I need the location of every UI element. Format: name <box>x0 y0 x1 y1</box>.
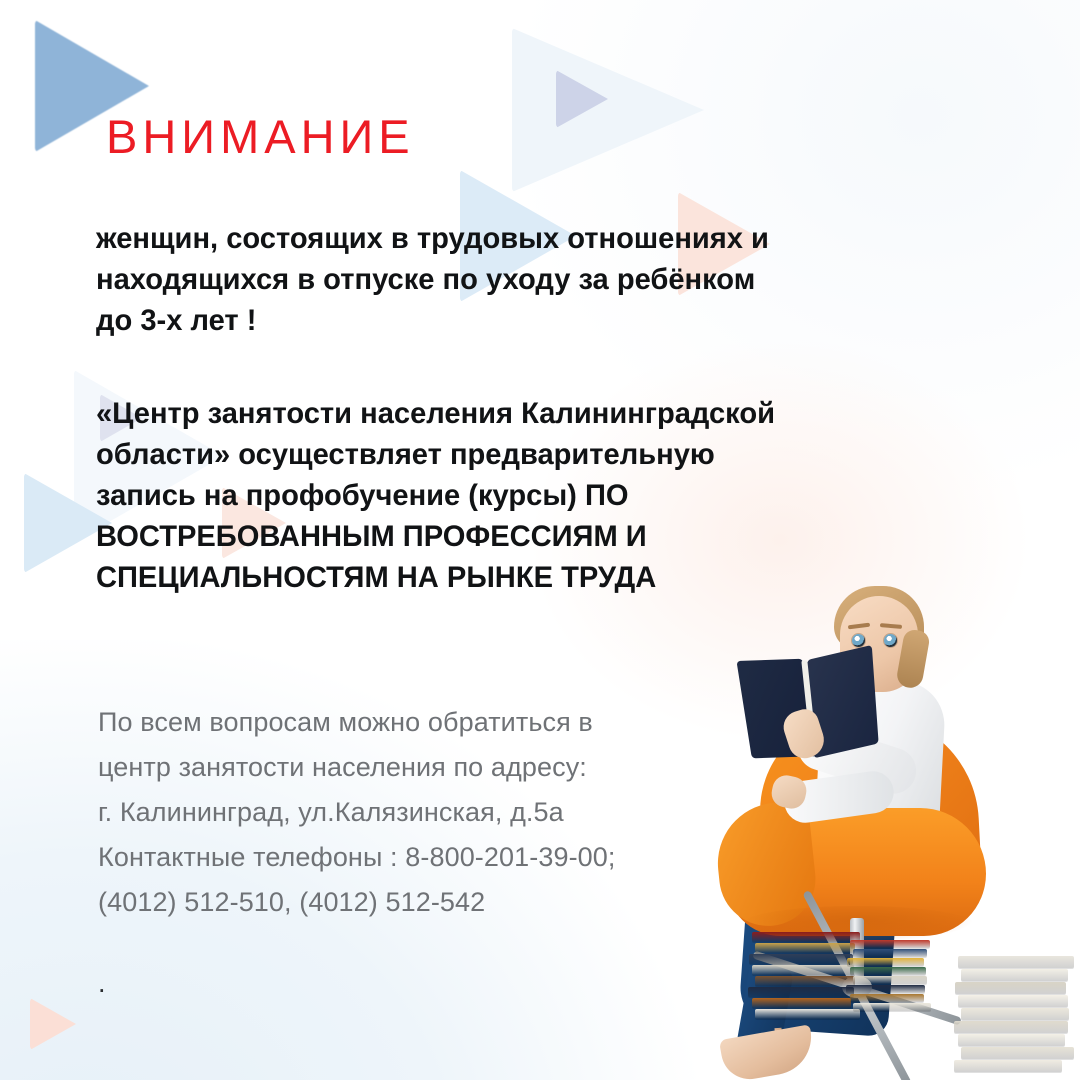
contact-phone-primary: Контактные телефоны : 8-800-201-39-00; <box>98 835 798 880</box>
paragraph-line: женщин, состоящих в трудовых отношениях … <box>96 218 959 259</box>
contact-phone-secondary: (4012) 512-510, (4012) 512-542 <box>98 880 798 925</box>
trailing-period: . <box>98 961 798 1006</box>
contact-block: По всем вопросам можно обратиться в цент… <box>98 700 798 1006</box>
paragraph-offer: «Центр занятости населения Калининградск… <box>96 393 959 598</box>
page-title: ВНИМАНИЕ <box>106 113 415 160</box>
poster-content: ВНИМАНИЕ женщин, состоящих в трудовых от… <box>96 0 992 1080</box>
paragraph-line: «Центр занятости населения Калининградск… <box>96 393 959 434</box>
paragraph-line: до 3-х лет ! <box>96 300 959 341</box>
paragraph-line: СПЕЦИАЛЬНОСТЯМ НА РЫНКЕ ТРУДА <box>96 557 959 598</box>
paragraph-line: запись на профобучение (курсы) ПО <box>96 475 959 516</box>
paragraph-line: ВОСТРЕБОВАННЫМ ПРОФЕССИЯМ И <box>96 516 959 557</box>
triangle-bottom-left-peach <box>30 998 76 1050</box>
paragraph-target-audience: женщин, состоящих в трудовых отношениях … <box>96 218 959 341</box>
paragraph-line: находящихся в отпуске по уходу за ребёнк… <box>96 259 959 300</box>
paragraph-line: области» осуществляет предварительную <box>96 434 959 475</box>
contact-address: г. Калининград, ул.Калязинская, д.5а <box>98 790 798 835</box>
contact-line: центр занятости населения по адресу: <box>98 745 798 790</box>
contact-line: По всем вопросам можно обратиться в <box>98 700 798 745</box>
poster-canvas: ВНИМАНИЕ женщин, состоящих в трудовых от… <box>0 0 1080 1080</box>
